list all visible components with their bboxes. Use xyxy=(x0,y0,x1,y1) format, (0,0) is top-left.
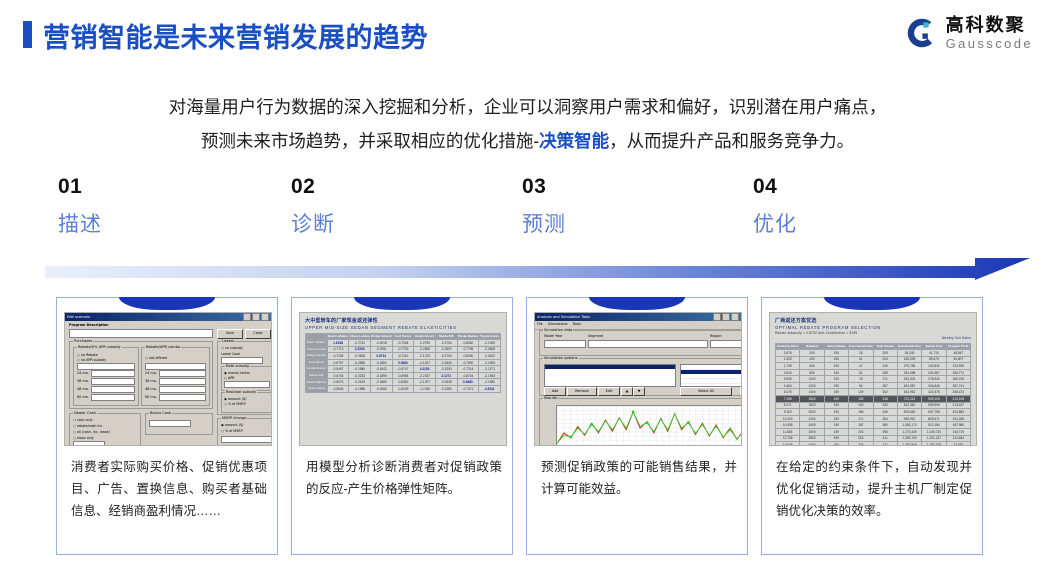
table-cell: 240 xyxy=(873,363,897,370)
table-row: Nissan Maxima-0.6073-0.2149-0.1869-0.635… xyxy=(306,379,501,386)
step-1-number: 01 xyxy=(58,176,278,197)
table-row: 7.1951600190125318722,113509,105213,108 xyxy=(776,396,971,403)
card-2-caption: 用模型分析诊断消费者对促销政策的反应-产生价格弹性矩阵。 xyxy=(306,456,502,500)
label-program-description: Program Description xyxy=(69,323,109,327)
table-cell: 203 xyxy=(849,429,873,436)
combo-rate-60[interactable] xyxy=(159,394,206,401)
radio-residual-amount[interactable]: ◉ amount ($) xyxy=(224,397,246,401)
table-cell: 7.195 xyxy=(776,396,800,403)
table-cell: 190 xyxy=(824,415,848,422)
matrix-cell: -2.2806 xyxy=(414,346,436,353)
matrix-cell: -0.2588 xyxy=(349,359,371,366)
table-cell: 109 xyxy=(849,389,873,396)
matrix-cell: -0.7756 xyxy=(457,346,479,353)
combo-rebate-value[interactable] xyxy=(77,363,135,370)
lead-line-2b: ，从而提升产品和服务竞争力。 xyxy=(609,131,854,151)
matrix-cell: 4.2253 xyxy=(414,366,436,373)
matrix-cell: -0.6073 xyxy=(327,379,349,386)
table-cell: 1,173,439 xyxy=(897,429,921,436)
matrix-cell: -0.6352 xyxy=(392,379,414,386)
label-combo-60mo: 60 mo. xyxy=(145,395,157,399)
table-cell: 180,378 xyxy=(946,376,970,383)
lead-highlight: 决策智能 xyxy=(539,131,609,151)
combo-rate-48[interactable] xyxy=(159,386,206,393)
radio-lease-only[interactable]: ○ lease only xyxy=(73,436,94,440)
label-48mo: 48 mo. xyxy=(77,387,89,391)
elasticity-matrix-table: Buick LaSabreChevy LuminaDodge IntrepidF… xyxy=(305,333,501,393)
table-cell: 912,184 xyxy=(922,422,946,429)
table-row: Mazda 626-0.6704-0.2233-0.1895-0.6954-2.… xyxy=(306,372,501,379)
group-results-title: Results xyxy=(543,396,558,400)
chart-data-point xyxy=(590,423,593,426)
matrix-cell: -0.2692 xyxy=(435,346,457,353)
chart-svg xyxy=(557,406,742,446)
table-cell: 1200 xyxy=(800,382,824,389)
table-cell: 902,640 xyxy=(897,409,921,416)
close-icon[interactable] xyxy=(731,313,739,321)
matrix-title-cn: 大中型轿车的厂家现金返还弹性 xyxy=(305,317,501,324)
matrix-cell: -0.7254 xyxy=(392,339,414,346)
group-purchases-title: Purchases xyxy=(73,339,93,343)
table-cell: 722,113 xyxy=(897,396,921,403)
table-cell: 209 xyxy=(873,349,897,356)
lead-line-2a: 预测未来市场趋势，并采取相应的优化措施- xyxy=(201,131,539,151)
card-predict[interactable]: Analysis and Simulation Tools File Simul… xyxy=(526,297,748,555)
table-cell: 1,151,017 xyxy=(922,435,946,442)
combo-region[interactable] xyxy=(710,340,742,348)
table-cell: 62 xyxy=(849,369,873,376)
radio-residual-pct[interactable]: ○ % of MSRP xyxy=(224,402,246,406)
table-cell: 213,108 xyxy=(946,396,970,403)
matrix-cell: -2.1903 xyxy=(479,359,501,366)
matrix-cell: 0.9480 xyxy=(392,359,414,366)
matrix-cell: -0.5645 xyxy=(327,386,349,393)
table-cell: 190 xyxy=(824,422,848,429)
table-row: Toyota Camry-0.5645-0.1988-0.1660-0.6199… xyxy=(306,386,501,393)
input-rate-subsidy[interactable] xyxy=(224,381,270,388)
combo-rate-24[interactable] xyxy=(159,370,206,377)
input-msrp-change[interactable] xyxy=(221,436,272,443)
table-cell: 8.171 xyxy=(776,402,800,409)
matrix-cell: -2.0808 xyxy=(479,346,501,353)
table-cell: 167,980 xyxy=(946,422,970,429)
matrix-cell: 4.2541 xyxy=(479,386,501,393)
close-button[interactable]: Close xyxy=(245,329,271,339)
table-row: 9.1192000190156349902,640697,798204,883 xyxy=(776,409,971,416)
matrix-cell: -2.1702 xyxy=(414,353,436,360)
table-cell: 47 xyxy=(849,363,873,370)
table-row: 0.9752001901820993,24041,71048,847 xyxy=(776,349,971,356)
table-cell: 190 xyxy=(824,382,848,389)
list-item-selected[interactable] xyxy=(545,365,675,369)
list-models[interactable] xyxy=(680,364,742,387)
screenshot-edit-scenario: Edit scenario Program Description Save C… xyxy=(64,312,272,446)
table-cell: 1,353,968 xyxy=(897,442,921,446)
table-cell: 48,847 xyxy=(946,349,970,356)
table-cell: 160,029 xyxy=(897,356,921,363)
group-leases: Leases ○ no subsidy Lease Cash Rate subs… xyxy=(217,341,272,415)
table-cell: 213,427 xyxy=(946,402,970,409)
table-cell: 2200 xyxy=(800,415,824,422)
input-bonus-cash[interactable] xyxy=(149,420,191,427)
table-cell: 156 xyxy=(849,409,873,416)
table-cell: 190 xyxy=(824,442,848,446)
matrix-cell: -0.2628 xyxy=(349,353,371,360)
label-combo-24mo: 24 mo. xyxy=(145,371,157,375)
optimal-rebate-table: Customer PriceRebate $Base VolumeIncreme… xyxy=(775,343,971,446)
combo-segment[interactable] xyxy=(588,340,708,348)
table-cell: 364 xyxy=(873,415,897,422)
table-cell: 73,639 xyxy=(946,442,970,446)
table-cell: 1,028,720 xyxy=(922,429,946,436)
table-cell: 204,387 xyxy=(922,369,946,376)
combo-rate-36[interactable] xyxy=(159,378,206,385)
group-sim-options-title: Simulation options xyxy=(543,356,579,360)
optimal-title-en: OPTIMAL REBATE PROGRAM SELECTION xyxy=(775,325,971,330)
table-cell: 187 xyxy=(849,422,873,429)
table-cell: 1000 xyxy=(800,376,824,383)
table-cell: 1.735 xyxy=(776,363,800,370)
matrix-cell: -0.6704 xyxy=(327,372,349,379)
matrix-cell: -0.8340 xyxy=(457,339,479,346)
step-3-label: 预测 xyxy=(522,214,742,235)
group-residual-subsidy: Residual subsidy ◉ amount ($) ○ % of MSR… xyxy=(221,392,272,413)
table-cell: 190 xyxy=(824,435,848,442)
table-cell: 340,846 xyxy=(922,382,946,389)
matrix-cell: -0.5747 xyxy=(392,366,414,373)
group-rate-subsidy-title: Rate subsidy xyxy=(225,364,250,368)
table-cell: 631,952 xyxy=(897,389,921,396)
table-cell: 287 xyxy=(873,382,897,389)
card-tab xyxy=(824,297,920,310)
table-cell: 144,719 xyxy=(946,429,970,436)
input-24mo[interactable] xyxy=(91,370,135,377)
maximize-icon[interactable] xyxy=(722,313,730,321)
matrix-cell: -0.2280 xyxy=(435,386,457,393)
table-cell: 190 xyxy=(824,363,848,370)
matrix-cell: -2.2752 xyxy=(414,339,436,346)
table-cell: 302 xyxy=(873,389,897,396)
card-row: Edit scenario Program Description Save C… xyxy=(0,297,1051,559)
table-row: 4.464120019094287541,987340,846187,741 xyxy=(776,382,971,389)
clear-all-button[interactable]: Clear All xyxy=(740,387,742,396)
table-cell: 992,910 xyxy=(897,415,921,422)
step-2-label: 诊断 xyxy=(291,214,511,235)
matrix-title-en: UPPER MID-SIZE SEDAN SEGMENT REBATE ELAS… xyxy=(305,325,501,330)
table-cell: 218 xyxy=(849,435,873,442)
group-results: Results xyxy=(539,398,742,446)
radio-cash-only[interactable]: ○ cash only xyxy=(73,418,93,422)
step-1: 01 描述 xyxy=(58,176,278,235)
table-row: Dodge Intrepid-0.7204-0.26280.6712-0.711… xyxy=(306,353,501,360)
table-cell: 112,684 xyxy=(946,435,970,442)
radio-msrp-pct[interactable]: ○ % of MSRP xyxy=(221,429,243,433)
matrix-cell: -0.7110 xyxy=(392,353,414,360)
step-3-number: 03 xyxy=(522,176,742,197)
close-icon[interactable] xyxy=(261,313,269,321)
table-cell: 41,710 xyxy=(922,349,946,356)
table-cell: 190 xyxy=(824,356,848,363)
matrix-row-header: Nissan Maxima xyxy=(306,379,328,386)
step-2-number: 02 xyxy=(291,176,511,197)
group-dealer-cash: Dealer Cash ○ cash only ○ rebate/cash in… xyxy=(69,413,141,446)
table-cell: 1,280,328 xyxy=(922,442,946,446)
card-describe[interactable]: Edit scenario Program Description Save C… xyxy=(56,297,278,555)
matrix-cell: -2.1982 xyxy=(479,379,501,386)
group-leases-title: Leases xyxy=(221,339,235,343)
card-1-caption: 消费者实际购买价格、促销优惠项目、广告、置换信息、购买者基础信息、经销商盈利情况… xyxy=(71,456,267,522)
matrix-cell: -0.6797 xyxy=(327,359,349,366)
matrix-cell: -1.7436 xyxy=(414,386,436,393)
combo-model-year[interactable] xyxy=(544,340,586,348)
table-row: 2.62080019062255351,098204,387150,771 xyxy=(776,369,971,376)
matrix-cell: -2.0402 xyxy=(479,353,501,360)
table-row: 10.93824001901873801,083,170912,184167,9… xyxy=(776,422,971,429)
table-cell: 190 xyxy=(824,429,848,436)
table-cell: 2400 xyxy=(800,422,824,429)
table-row: 10.0292200190171364992,910803,571191,038 xyxy=(776,415,971,422)
table-cell: 1600 xyxy=(800,396,824,403)
radio-money-factor[interactable]: ◉ money factor xyxy=(224,371,250,375)
input-48mo[interactable] xyxy=(91,386,135,393)
table-cell: 6.075 xyxy=(776,389,800,396)
table-cell: 187,741 xyxy=(946,382,970,389)
radio-msrp-amount[interactable]: ◉ amount ($) xyxy=(221,423,243,427)
table-cell: 276,949 xyxy=(922,376,946,383)
window-controls[interactable] xyxy=(713,313,739,321)
group-bonus-cash: Bonus Cash xyxy=(145,413,213,435)
table-cell: 11.805 xyxy=(776,429,800,436)
matrix-cell: 1.1548 xyxy=(327,339,349,346)
table-cell: 3.535 xyxy=(776,376,800,383)
table-cell: 191,038 xyxy=(946,415,970,422)
matrix-row-header: Buick LaSabre xyxy=(306,339,328,346)
table-cell: 171 xyxy=(849,415,873,422)
table-cell: 349 xyxy=(873,409,897,416)
matrix-cell: -0.8490 xyxy=(457,353,479,360)
input-36mo[interactable] xyxy=(91,378,135,385)
input-program-description[interactable] xyxy=(69,329,213,338)
table-cell: 271 xyxy=(873,376,897,383)
group-rate-subsidy: Rate subsidy ◉ money factor ○ APR xyxy=(221,366,272,391)
group-msrp-change: MSRP change ◉ amount ($) ○ % of MSRP xyxy=(217,418,272,446)
table-cell: 10.938 xyxy=(776,422,800,429)
table-body: Buick LaSabre1.1548-0.2742-0.2018-0.7254… xyxy=(306,339,501,392)
list-item[interactable] xyxy=(681,379,742,384)
step-3: 03 预测 xyxy=(522,176,742,235)
table-cell: 190 xyxy=(824,389,848,396)
table-cell: 270,784 xyxy=(897,363,921,370)
matrix-cell: -0.7713 xyxy=(327,346,349,353)
lead-line-1: 对海量用户行为数据的深入挖掘和分析，企业可以洞察用户需求和偏好，识别潜在用户痛点… xyxy=(169,97,887,117)
lead-paragraph: 对海量用户行为数据的深入挖掘和分析，企业可以洞察用户需求和偏好，识别潜在用户痛点… xyxy=(45,90,1010,158)
table-cell: 13.645 xyxy=(776,442,800,446)
table-cell: 400 xyxy=(800,356,824,363)
minimize-icon[interactable] xyxy=(713,313,721,321)
page-title: 营销智能是未来营销发展的趋势 xyxy=(43,16,428,55)
brand-logo: 高科数聚 Gausscode xyxy=(905,16,1033,50)
table-cell: 31 xyxy=(849,356,873,363)
remove-button[interactable]: Remove xyxy=(567,387,597,396)
table-row: 13.64530001902344271,353,9681,280,32873,… xyxy=(776,442,971,446)
group-rebate-apr-title: Rebate/0% APR subsidy xyxy=(77,345,122,349)
table-cell: 150,771 xyxy=(946,369,970,376)
matrix-cell: -0.1869 xyxy=(370,379,392,386)
minimize-icon[interactable] xyxy=(243,313,251,321)
table-cell: 599,906 xyxy=(922,402,946,409)
matrix-cell: -0.7314 xyxy=(457,366,479,373)
select-all-button[interactable]: Select All xyxy=(680,387,732,396)
edit-button[interactable]: Edit xyxy=(598,387,620,396)
matrix-cell: -2.1497 xyxy=(414,359,436,366)
window-title: Edit scenario xyxy=(67,313,90,321)
matrix-cell: -0.1988 xyxy=(349,386,371,393)
table-row: Buick LaSabre1.1548-0.2742-0.2018-0.7254… xyxy=(306,339,501,346)
table-cell: 190 xyxy=(824,369,848,376)
matrix-cell: -0.2742 xyxy=(349,339,371,346)
card-4-caption: 在给定的约束条件下，自动发现并优化促销活动，提升主机厂制定促销优化决策的效率。 xyxy=(776,456,972,522)
window-controls[interactable] xyxy=(243,313,269,321)
matrix-cell: 2.1271 xyxy=(435,372,457,379)
table-cell: 234 xyxy=(849,442,873,446)
save-button[interactable]: Save xyxy=(217,329,243,339)
table-cell: 411 xyxy=(873,435,897,442)
table-row: 3.535100019078271451,303276,949180,378 xyxy=(776,376,971,383)
table-row: 1.00540019031224160,02989,67390,807 xyxy=(776,356,971,363)
matrix-cell: -0.1860 xyxy=(370,359,392,366)
combo-offered-value[interactable] xyxy=(145,363,206,370)
label-combo-36mo: 36 mo. xyxy=(145,379,157,383)
group-purchases: Purchases Rebate/0% APR subsidy ○ no Reb… xyxy=(69,341,213,409)
table-cell: 190 xyxy=(824,376,848,383)
screenshot-elasticity-matrix: 大中型轿车的厂家现金返还弹性 UPPER MID-SIZE SEDAN SEGM… xyxy=(299,312,507,446)
table-cell: 190 xyxy=(824,409,848,416)
matrix-cell: -0.1660 xyxy=(370,386,392,393)
matrix-row-header: Ford Taurus xyxy=(306,359,328,366)
matrix-cell: -2.2271 xyxy=(479,366,501,373)
group-simulation-data: Simulation data Model Year Segment Regio… xyxy=(539,330,742,356)
table-cell: 255 xyxy=(873,369,897,376)
table-cell: 208,473 xyxy=(946,389,970,396)
card-3-caption: 预测促销政策的可能销售结果，并计算可能效益。 xyxy=(541,456,737,500)
table-row: 8.1711800190140333812,381599,906213,427 xyxy=(776,402,971,409)
table-row: Chevy Lumina-0.77132.2533-0.1991-0.7793-… xyxy=(306,346,501,353)
radio-rebate-cash[interactable]: ○ rebate/cash inc. xyxy=(73,424,103,428)
matrix-cell: -0.2754 xyxy=(435,339,457,346)
matrix-cell: -2.1096 xyxy=(479,339,501,346)
table-cell: 140 xyxy=(849,402,873,409)
optimal-note: Weekly Unit Sales xyxy=(775,336,971,340)
screenshot-optimal-rebate: 厂商返还方案优选 OPTIMAL REBATE PROGRAM SELECTIO… xyxy=(769,312,977,446)
table-cell: 380 xyxy=(873,422,897,429)
chart-data-point xyxy=(687,421,690,424)
list-scenarios[interactable] xyxy=(544,364,676,387)
step-4-number: 04 xyxy=(753,176,973,197)
maximize-icon[interactable] xyxy=(252,313,260,321)
group-bonus-cash-title: Bonus Cash xyxy=(149,411,172,415)
matrix-cell: -0.7371 xyxy=(457,386,479,393)
table-cell: 200 xyxy=(800,349,824,356)
step-4: 04 优化 xyxy=(753,176,973,235)
matrix-cell: -0.1991 xyxy=(370,346,392,353)
move-up-button[interactable]: ▲ xyxy=(621,387,633,396)
matrix-cell: -0.2018 xyxy=(370,339,392,346)
move-down-button[interactable]: ▼ xyxy=(633,387,645,396)
group-rebate-apr: Rebate/0% APR subsidy ○ no Rebate ○ no A… xyxy=(73,347,139,406)
label-60mo: 60 mo. xyxy=(77,395,89,399)
step-2: 02 诊断 xyxy=(291,176,511,235)
table-cell: 812,381 xyxy=(897,402,921,409)
table-cell: 396 xyxy=(873,429,897,436)
card-tab xyxy=(354,297,450,310)
table-cell: 124,930 xyxy=(946,363,970,370)
card-diagnose[interactable]: 大中型轿车的厂家现金返还弹性 UPPER MID-SIZE SEDAN SEGM… xyxy=(291,297,513,555)
radio-no-subsidy[interactable]: ○ no subsidy xyxy=(221,346,243,350)
card-optimize[interactable]: 厂商返还方案优选 OPTIMAL REBATE PROGRAM SELECTIO… xyxy=(761,297,983,555)
input-dealer-cash[interactable] xyxy=(73,441,105,446)
matrix-cell: -0.7500 xyxy=(457,359,479,366)
table-cell: 204,883 xyxy=(946,409,970,416)
matrix-cell: -2.1963 xyxy=(479,372,501,379)
title-accent-bar xyxy=(23,21,32,48)
table-cell: 2800 xyxy=(800,435,824,442)
table-row: Ford Taurus-0.6797-0.2588-0.18600.9480-2… xyxy=(306,359,501,366)
chart-data-point xyxy=(729,429,732,432)
chart-data-point xyxy=(632,411,635,414)
chart-data-point xyxy=(646,421,649,424)
table-cell: 509,105 xyxy=(922,396,946,403)
matrix-cell: -0.1986 xyxy=(349,366,371,373)
table-cell: 4.464 xyxy=(776,382,800,389)
table-cell: 140,842 xyxy=(922,363,946,370)
input-60mo[interactable] xyxy=(91,394,135,401)
radio-apr[interactable]: ○ APR xyxy=(224,376,234,380)
optimal-subtitle: Rebate elasticity = 0.8752 Unit Contribu… xyxy=(775,331,971,335)
table-cell: 9.119 xyxy=(776,409,800,416)
table-cell: 2.620 xyxy=(776,369,800,376)
matrix-row-header: Honda Accord xyxy=(306,366,328,373)
window-title: Analysis and Simulation Tools xyxy=(537,313,590,321)
group-sim-data-title: Simulation data xyxy=(543,328,573,332)
progress-arrow xyxy=(45,258,1030,290)
matrix-cell: -0.2293 xyxy=(435,366,457,373)
matrix-cell: -0.2754 xyxy=(435,353,457,360)
table-cell: 1,263,700 xyxy=(897,435,921,442)
matrix-row-header: Mazda 626 xyxy=(306,372,328,379)
table-cell: 2000 xyxy=(800,409,824,416)
table-cell: 93,240 xyxy=(897,349,921,356)
matrix-cell: -0.2233 xyxy=(349,372,371,379)
radio-no-apr[interactable]: ○ no APR subsidy xyxy=(77,358,106,362)
matrix-cell: -0.5497 xyxy=(327,366,349,373)
group-combo-title: Rebate/APR combo xyxy=(145,345,181,349)
table-cell: 697,798 xyxy=(922,409,946,416)
radio-all-cash[interactable]: ○ all (cash, inc, lease) xyxy=(73,430,110,434)
radio-no-rebate[interactable]: ○ no Rebate xyxy=(77,353,98,357)
radio-not-offered[interactable]: ○ not offered xyxy=(145,356,167,360)
table-cell: 451,303 xyxy=(897,376,921,383)
table-cell: 125 xyxy=(849,396,873,403)
arrow-shape-icon xyxy=(45,258,1030,290)
table-cell: 190 xyxy=(824,396,848,403)
table-cell: 600 xyxy=(800,363,824,370)
matrix-cell: -0.1642 xyxy=(370,366,392,373)
matrix-cell: -0.8704 xyxy=(457,372,479,379)
matrix-cell: -0.2649 xyxy=(435,359,457,366)
step-4-label: 优化 xyxy=(753,214,973,235)
matrix-cell: -0.2638 xyxy=(435,379,457,386)
table-cell: 190 xyxy=(824,349,848,356)
